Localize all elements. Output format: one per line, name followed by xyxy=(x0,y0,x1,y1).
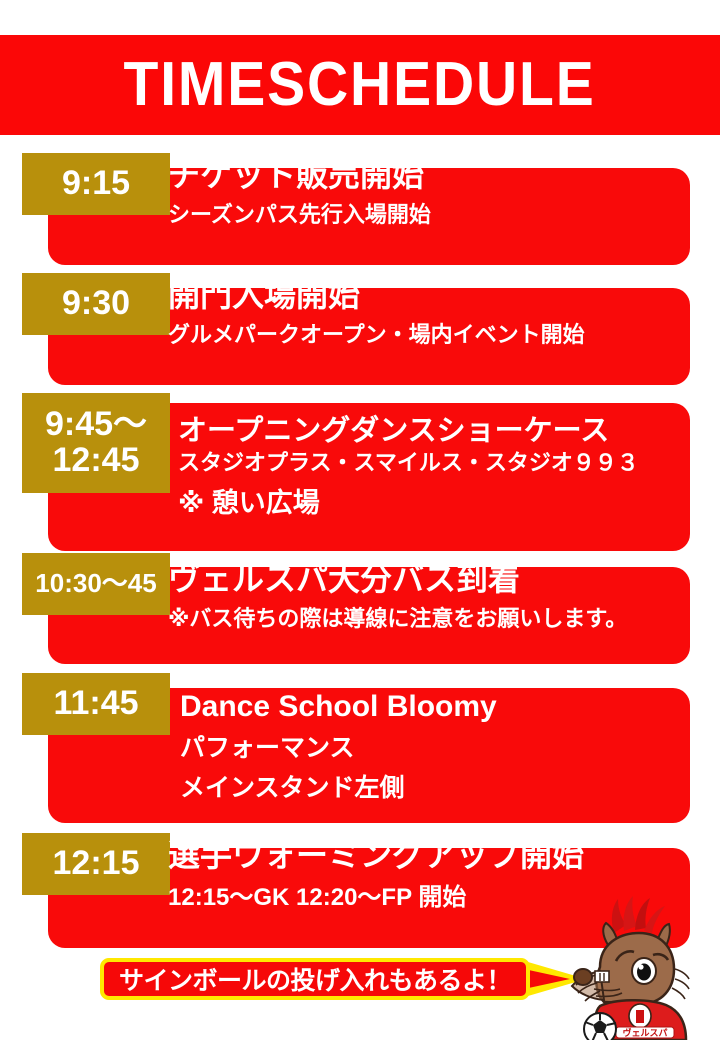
schedule-row-time-box: 9:15 xyxy=(22,153,170,215)
schedule-row-subtitle: スタジオプラス・スマイルス・スタジオ９９３ xyxy=(178,450,639,475)
schedule-row-subtitle: シーズンパス先行入場開始 xyxy=(168,202,431,227)
schedule-row-title: ヴェルスパ大分バス到着 xyxy=(168,562,520,597)
schedule-row-time: 9:15 xyxy=(62,166,130,202)
schedule-row-time: 10:30〜45 xyxy=(35,570,156,597)
mascot-illustration: ヴェルスパ xyxy=(556,893,706,1040)
schedule-row-time-box: 9:45〜12:45 xyxy=(22,393,170,493)
schedule-row-time: 12:15 xyxy=(53,846,140,882)
schedule-row-time-box: 12:15 xyxy=(22,833,170,895)
schedule-row-title: 開門入場開始 xyxy=(168,278,360,313)
speech-bubble-text: サインボールの投げ入れもあるよ！ xyxy=(119,961,511,997)
schedule-row-time-box: 11:45 xyxy=(22,673,170,735)
schedule-row-note: ※ 憩い広場 xyxy=(178,487,320,519)
title-banner: TIMESCHEDULE xyxy=(0,35,720,135)
schedule-row-time: 11:45 xyxy=(53,686,138,722)
mascot-soccer-ball-icon xyxy=(584,1013,616,1040)
speech-bubble-body: サインボールの投げ入れもあるよ！ xyxy=(100,958,530,1000)
schedule-row-subtitle: パフォーマンス xyxy=(180,734,355,763)
page-title: TIMESCHEDULE xyxy=(124,54,596,116)
schedule-row-subtitle: グルメパークオープン・場内イベント開始 xyxy=(168,322,585,347)
mascot-hair-icon xyxy=(612,896,665,933)
mascot-head-icon xyxy=(572,933,689,1004)
schedule-row-time-box: 9:30 xyxy=(22,273,170,335)
schedule-row-time: 9:30 xyxy=(62,286,130,322)
schedule-row-subtitle: ※バス待ちの際は導線に注意をお願いします。 xyxy=(168,606,627,631)
schedule-row-title: オープニングダンスショーケース xyxy=(178,416,609,448)
schedule-row-time: 12:45 xyxy=(53,443,140,479)
schedule-row-title: 選手ウォーミングアップ開始 xyxy=(168,838,584,873)
schedule-row-subtitle: 12:15〜GK 12:20〜FP 開始 xyxy=(168,884,466,912)
schedule-row-time: 9:45〜 xyxy=(45,407,147,443)
svg-text:ヴェルスパ: ヴェルスパ xyxy=(622,1027,667,1038)
schedule-row-note: メインスタンド左側 xyxy=(180,773,405,803)
schedule-row-time-box: 10:30〜45 xyxy=(22,553,170,615)
schedule-row-title: Dance School Bloomy xyxy=(180,690,497,723)
schedule-row-title: チケット販売開始 xyxy=(168,158,424,193)
speech-bubble: サインボールの投げ入れもあるよ！ xyxy=(100,958,530,1000)
